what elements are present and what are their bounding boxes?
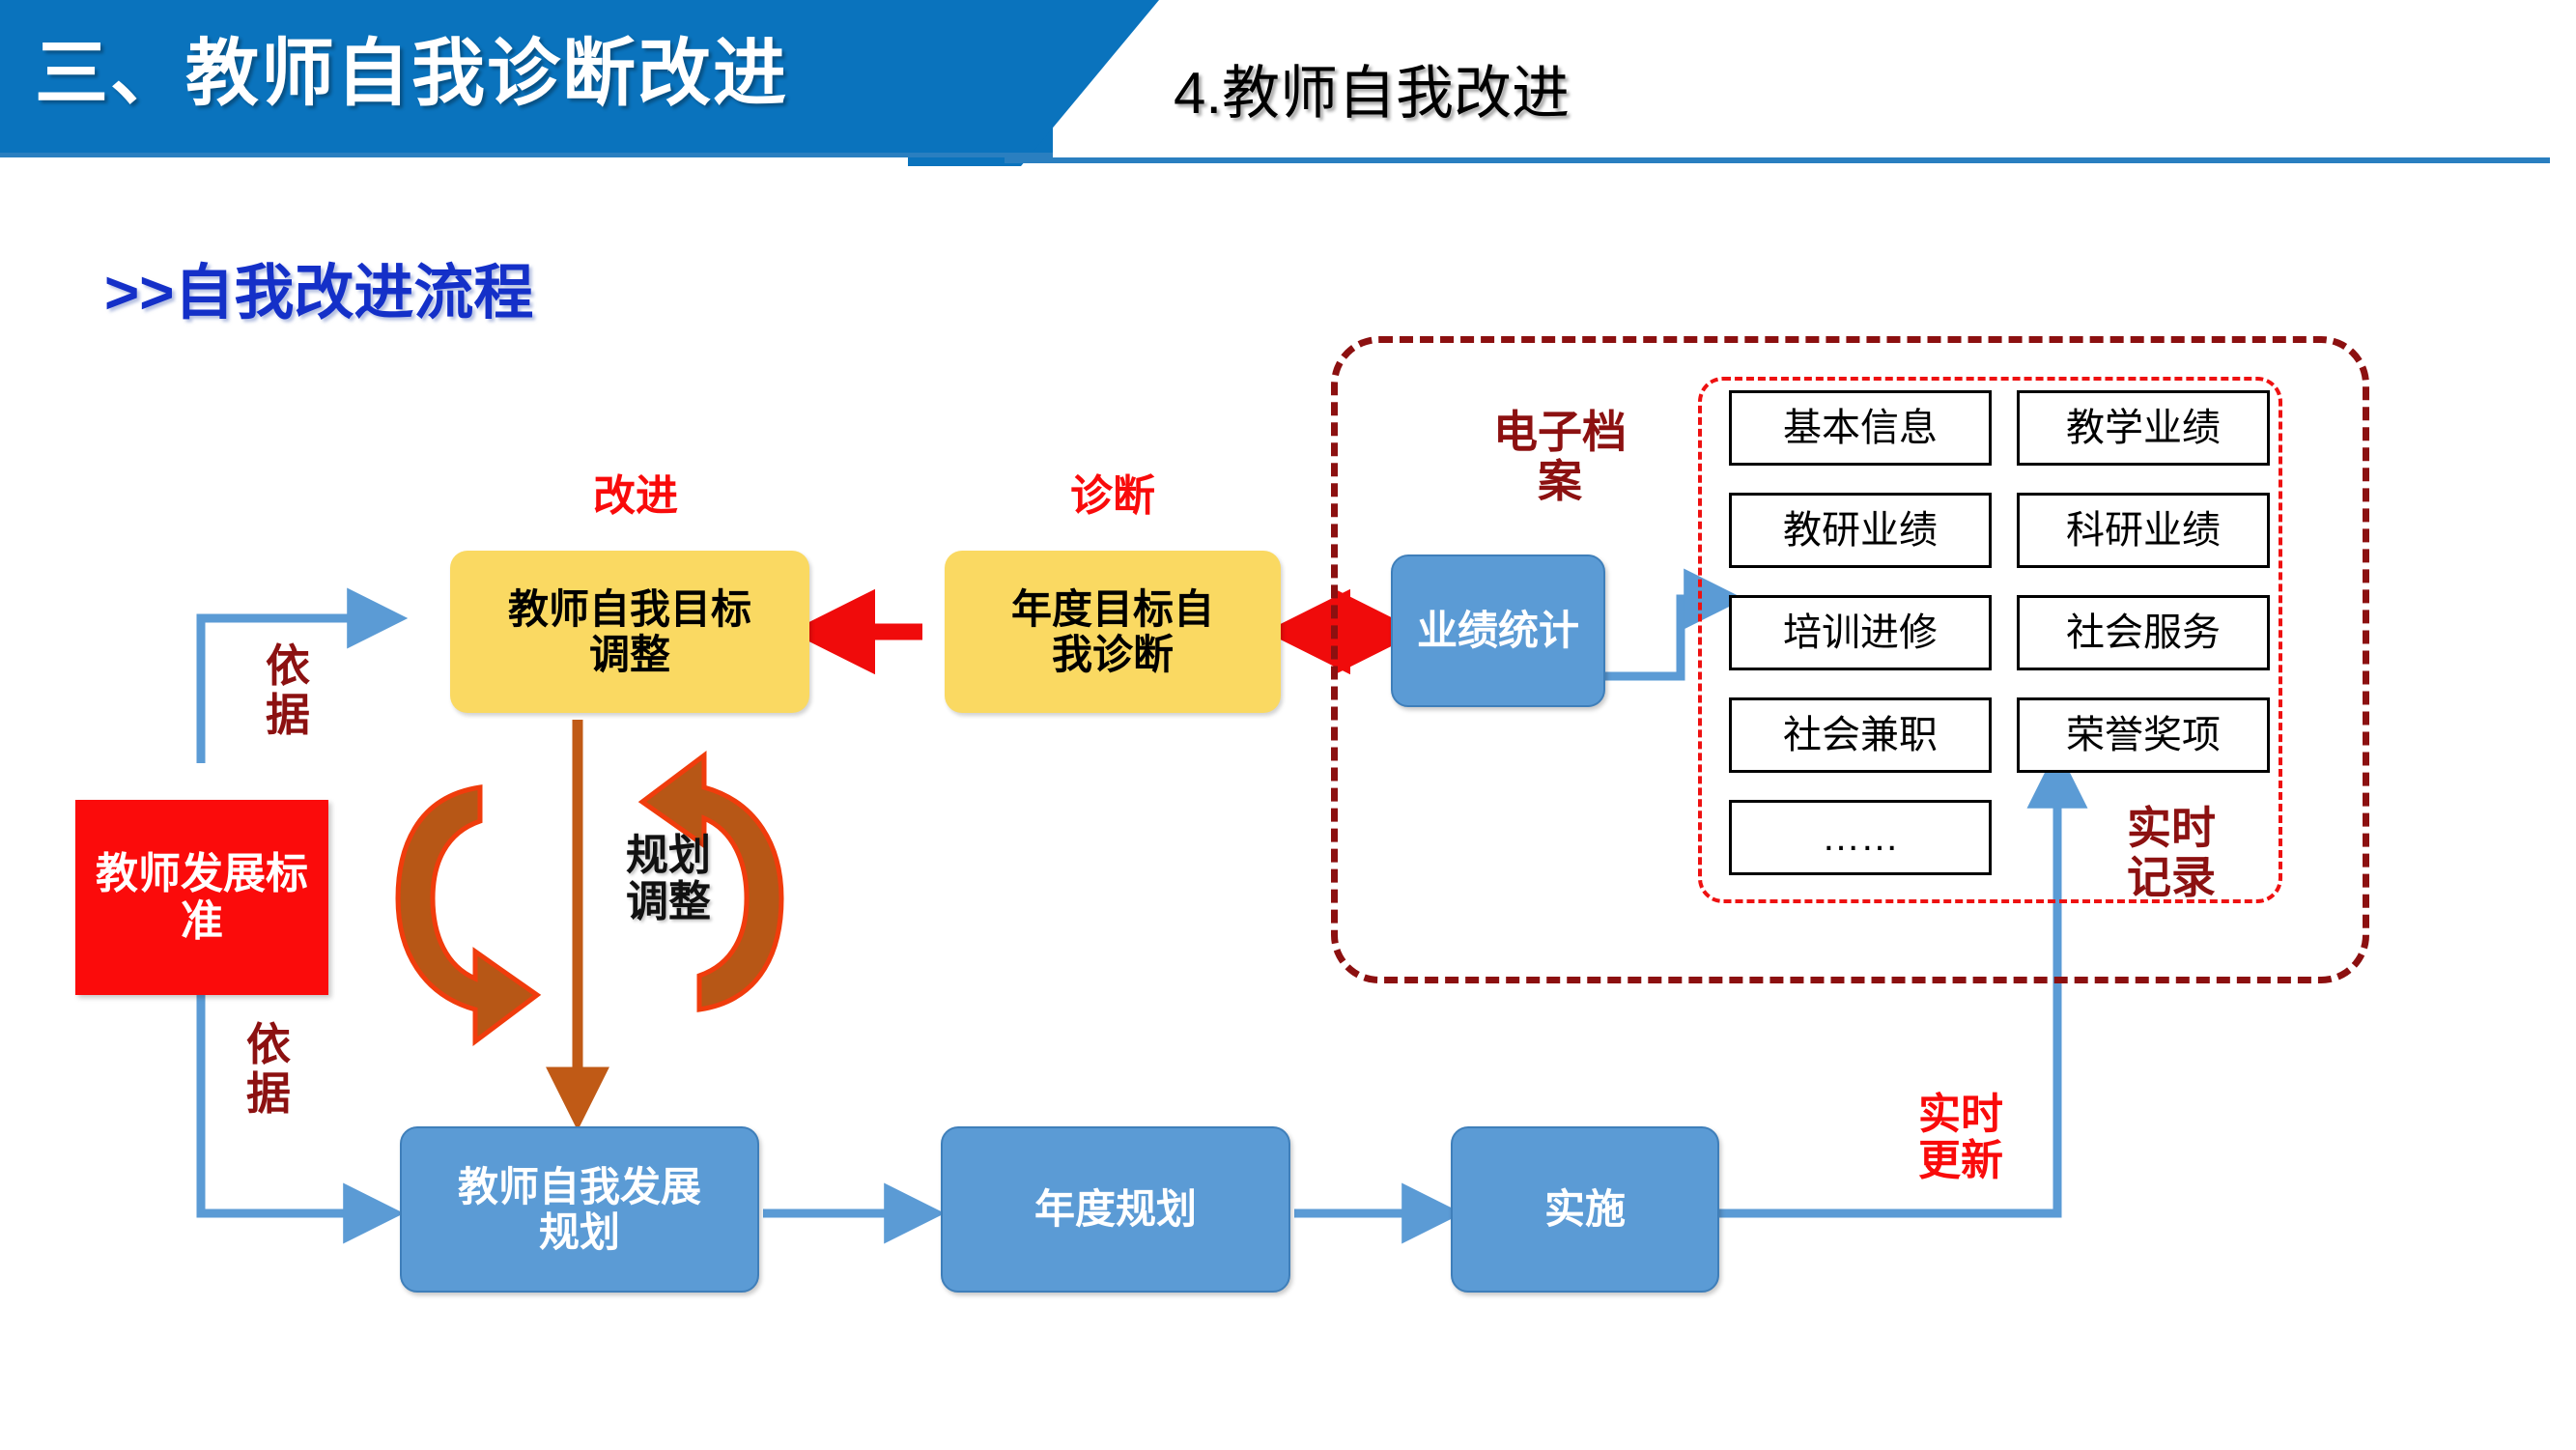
- archive-item-basic-info[interactable]: 基本信息: [1729, 390, 1992, 466]
- archive-item-label: 社会兼职: [1783, 714, 1938, 757]
- node-performance-statistics-label: 业绩统计: [1417, 608, 1579, 653]
- label-diagnose: 诊断: [1055, 473, 1171, 520]
- node-annual-plan-label: 年度规划: [1034, 1186, 1197, 1232]
- node-teacher-development-standard-label: 教师发展标准: [75, 850, 328, 946]
- node-self-development-plan-label: 教师自我发展 规划: [458, 1164, 701, 1255]
- label-realtime-record: 实时 记录: [2084, 804, 2258, 901]
- node-goal-adjustment-label: 教师自我目标 调整: [508, 586, 751, 677]
- label-improve: 改进: [578, 473, 694, 520]
- node-implementation-label: 实施: [1544, 1186, 1626, 1232]
- header-banner-title: 三、教师自我诊断改进: [35, 21, 904, 128]
- archive-item-scientific-research[interactable]: 科研业绩: [2017, 493, 2270, 568]
- header-rule-left: [0, 153, 1053, 157]
- header-rule-right: [1005, 157, 2550, 163]
- archive-item-social-part-time[interactable]: 社会兼职: [1729, 697, 1992, 773]
- archive-item-ellipsis[interactable]: ……: [1729, 800, 1992, 875]
- label-basis-top: 依 据: [249, 641, 326, 739]
- label-basis-bottom: 依 据: [230, 1020, 307, 1118]
- archive-item-teaching-performance[interactable]: 教学业绩: [2017, 390, 2270, 466]
- archive-item-label: 基本信息: [1783, 407, 1938, 450]
- header-banner-slant: [908, 0, 1159, 166]
- archive-item-training[interactable]: 培训进修: [1729, 595, 1992, 670]
- archive-item-label: 教学业绩: [2066, 407, 2221, 450]
- node-annual-plan[interactable]: 年度规划: [941, 1126, 1290, 1293]
- node-self-development-plan[interactable]: 教师自我发展 规划: [400, 1126, 759, 1293]
- archive-item-teaching-research[interactable]: 教研业绩: [1729, 493, 1992, 568]
- archive-item-label: 社会服务: [2066, 611, 2221, 655]
- node-goal-adjustment[interactable]: 教师自我目标 调整: [450, 551, 809, 713]
- node-implementation[interactable]: 实施: [1451, 1126, 1719, 1293]
- node-teacher-development-standard[interactable]: 教师发展标准: [75, 800, 328, 995]
- label-electronic-archive: 电子档 案: [1468, 408, 1652, 505]
- node-performance-statistics[interactable]: 业绩统计: [1391, 554, 1605, 707]
- archive-item-label: 教研业绩: [1783, 509, 1938, 553]
- node-annual-goal-self-diagnosis-label: 年度目标自 我诊断: [1011, 586, 1214, 677]
- label-plan-adjustment: 规划 调整: [591, 833, 746, 926]
- page-title: 4.教师自我改进: [1174, 46, 1570, 130]
- label-realtime-update: 实时 更新: [1874, 1092, 2048, 1185]
- archive-item-label: 荣誉奖项: [2066, 714, 2221, 757]
- section-subtitle: >>自我改进流程: [104, 243, 533, 330]
- archive-item-honors-awards[interactable]: 荣誉奖项: [2017, 697, 2270, 773]
- archive-item-label: ……: [1822, 816, 1899, 860]
- node-annual-goal-self-diagnosis[interactable]: 年度目标自 我诊断: [945, 551, 1281, 713]
- archive-item-label: 培训进修: [1783, 611, 1938, 655]
- archive-item-social-service[interactable]: 社会服务: [2017, 595, 2270, 670]
- archive-item-label: 科研业绩: [2066, 509, 2221, 553]
